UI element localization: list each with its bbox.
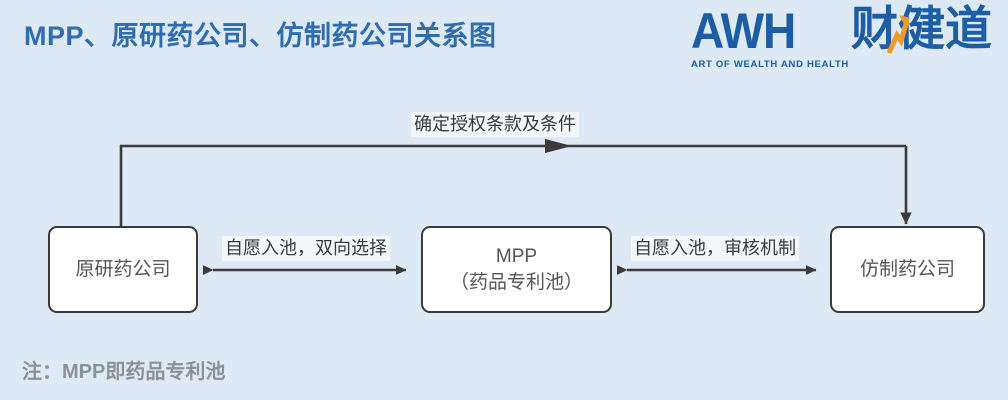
diagram-canvas: MPP、原研药公司、仿制药公司关系图 AWH ART OF WEALTH AND… [0, 0, 1008, 400]
node-mpp[interactable]: MPP （药品专利池） [421, 226, 612, 313]
node-origin-label: 原研药公司 [75, 257, 170, 283]
footnote: 注：MPP即药品专利池 [22, 355, 225, 384]
edge-label-voluntary-pool-two-way: 自愿入池，双向选择 [222, 236, 390, 261]
node-generic-label: 仿制药公司 [860, 257, 955, 283]
node-original-drug-company[interactable]: 原研药公司 [48, 226, 198, 313]
node-generic-drug-company[interactable]: 仿制药公司 [830, 226, 985, 313]
edge-label-authorization-terms: 确定授权条款及条件 [411, 112, 579, 137]
diagram-connectors [0, 0, 1008, 400]
node-mpp-sublabel: （药品专利池） [450, 270, 583, 296]
edge-label-voluntary-pool-review: 自愿入池，审核机制 [631, 236, 799, 261]
node-mpp-label: MPP [496, 244, 537, 270]
edge-top-arrowhead [545, 139, 572, 153]
edge-top-authorization [121, 139, 906, 226]
